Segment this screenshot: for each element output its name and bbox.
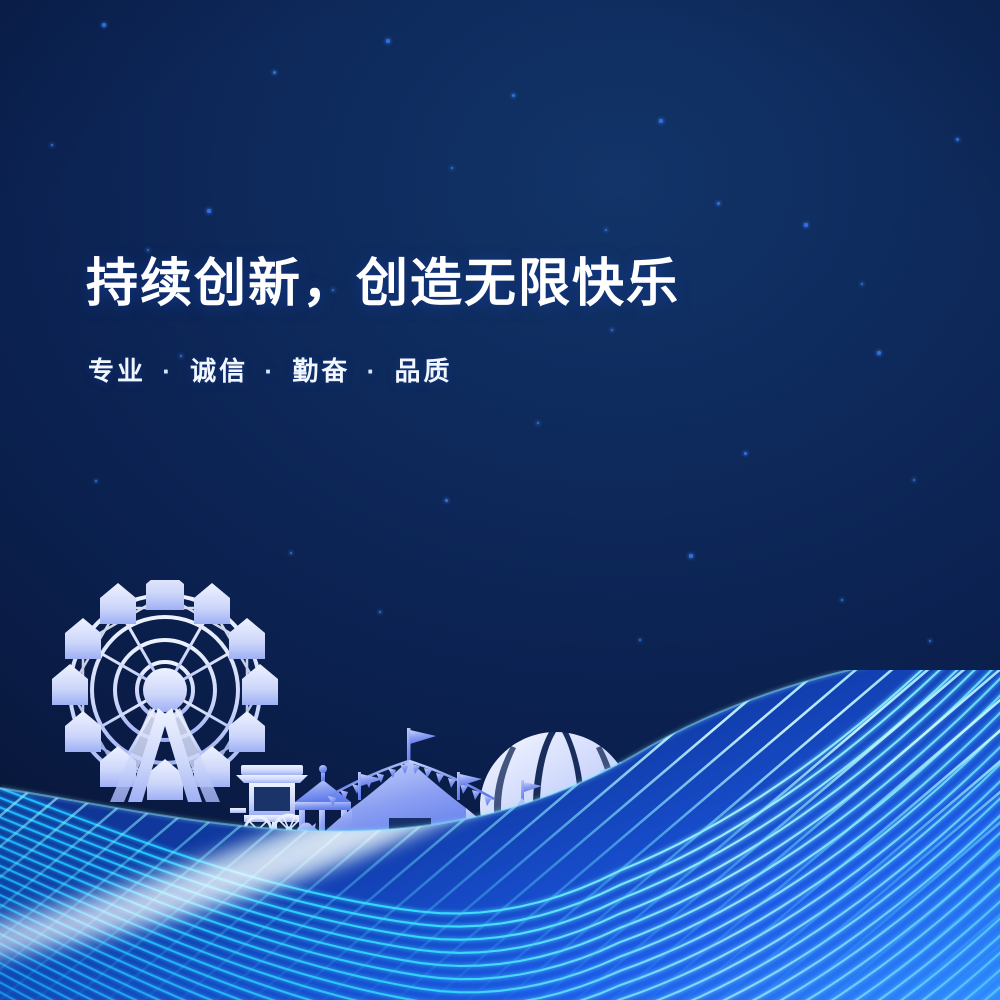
star-dot (386, 39, 390, 43)
star-dot (147, 249, 149, 251)
tagline-item-3: 品质 (394, 356, 452, 386)
star-dot (913, 479, 916, 482)
star-dot (804, 223, 807, 226)
star-dot (51, 144, 54, 147)
star-dot (273, 71, 276, 74)
tagline-item-0: 专业 (88, 356, 146, 386)
star-dot (95, 480, 98, 483)
tagline-item-2: 勤奋 (292, 356, 350, 386)
star-dot (102, 23, 106, 27)
tagline-separator-0: · (156, 356, 180, 386)
star-dot (956, 138, 959, 141)
star-dot (207, 209, 210, 212)
star-dot (445, 499, 448, 502)
star-dot (659, 119, 662, 122)
star-dot (537, 422, 539, 424)
neon-mesh-wave (0, 670, 1000, 1000)
tagline-item-1: 诚信 (190, 356, 248, 386)
page-title: 持续创新，创造无限快乐 (86, 255, 906, 315)
star-dot (744, 452, 747, 455)
star-dot (512, 94, 515, 97)
star-dot (717, 202, 720, 205)
star-dot (290, 552, 293, 555)
tagline-separator-1: · (258, 356, 282, 386)
star-dot (689, 554, 692, 557)
tagline: 专业 · 诚信 · 勤奋 · 品质 (88, 351, 906, 388)
banner-canvas: 持续创新，创造无限快乐 专业 · 诚信 · 勤奋 · 品质 (0, 0, 1000, 1000)
banner-copy: 持续创新，创造无限快乐 专业 · 诚信 · 勤奋 · 品质 (86, 255, 906, 388)
tagline-separator-2: · (361, 356, 385, 386)
star-dot (451, 167, 454, 170)
star-dot (605, 229, 608, 232)
